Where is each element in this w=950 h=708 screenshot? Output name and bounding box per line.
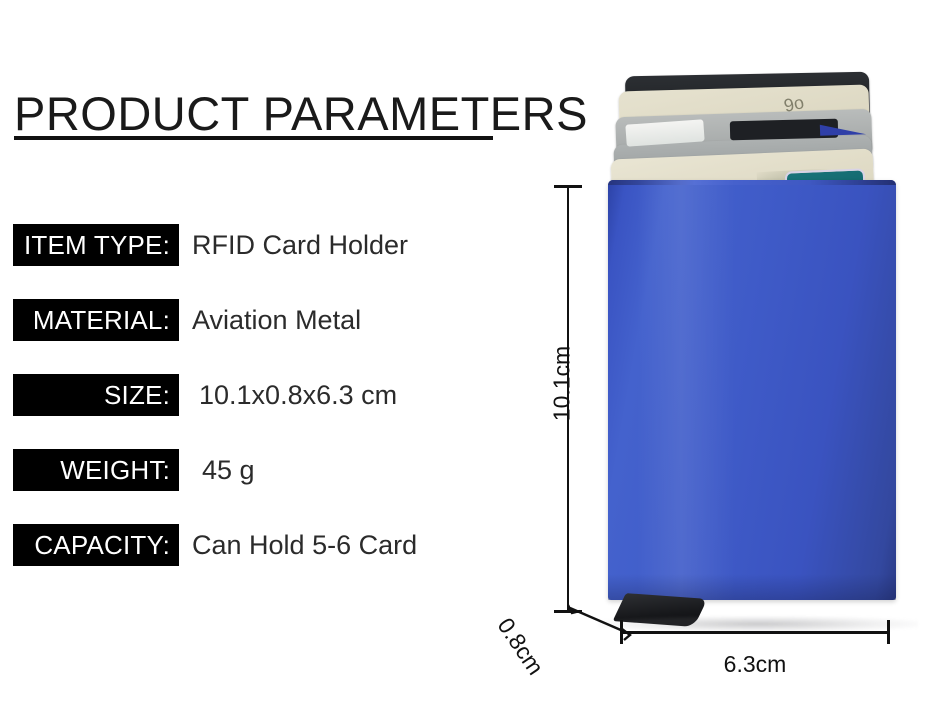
parameter-value: 45 g bbox=[202, 449, 255, 491]
parameter-row-capacity: CAPACITY: Can Hold 5-6 Card bbox=[0, 524, 520, 568]
parameter-label-block: MATERIAL: bbox=[13, 299, 179, 341]
parameter-list: ITEM TYPE: RFID Card Holder MATERIAL: Av… bbox=[0, 224, 520, 599]
depth-dimension-arrow bbox=[566, 604, 636, 640]
parameter-label-block: CAPACITY: bbox=[13, 524, 179, 566]
parameter-label: SIZE: bbox=[104, 380, 170, 411]
card-holder-sheen bbox=[637, 180, 735, 600]
parameter-label: MATERIAL: bbox=[33, 305, 170, 336]
parameter-label: CAPACITY: bbox=[34, 530, 170, 561]
parameter-row-weight: WEIGHT: 45 g bbox=[0, 449, 520, 493]
parameter-value: Can Hold 5-6 Card bbox=[192, 524, 417, 566]
parameter-row-material: MATERIAL: Aviation Metal bbox=[0, 299, 520, 343]
parameter-row-item-type: ITEM TYPE: RFID Card Holder bbox=[0, 224, 520, 268]
parameter-value: 10.1x0.8x6.3 cm bbox=[199, 374, 397, 416]
page-title: PRODUCT PARAMETERS bbox=[14, 86, 588, 141]
parameter-label: ITEM TYPE: bbox=[24, 230, 170, 261]
parameter-label: WEIGHT: bbox=[60, 455, 170, 486]
parameter-row-size: SIZE: 10.1x0.8x6.3 cm bbox=[0, 374, 520, 418]
card-holder-body bbox=[608, 180, 896, 600]
width-dimension-line bbox=[621, 631, 889, 634]
product-drop-shadow bbox=[598, 616, 918, 632]
parameter-label-block: SIZE: bbox=[13, 374, 179, 416]
product-image: 半粟 9o Pay 银联 bbox=[520, 40, 950, 680]
parameter-label-block: ITEM TYPE: bbox=[13, 224, 179, 266]
width-dimension-label: 6.3cm bbox=[621, 651, 889, 678]
width-dimension-tick-right bbox=[887, 620, 890, 644]
title-underline-rule bbox=[14, 136, 493, 140]
height-dimension-tick-top bbox=[554, 185, 582, 188]
parameter-value: RFID Card Holder bbox=[192, 224, 408, 266]
card-blue-stripe bbox=[820, 123, 866, 136]
parameter-label-block: WEIGHT: bbox=[13, 449, 179, 491]
parameter-value: Aviation Metal bbox=[192, 299, 361, 341]
height-dimension-label: 10.1cm bbox=[549, 329, 576, 439]
card-scribble-text: 9o bbox=[782, 92, 806, 117]
